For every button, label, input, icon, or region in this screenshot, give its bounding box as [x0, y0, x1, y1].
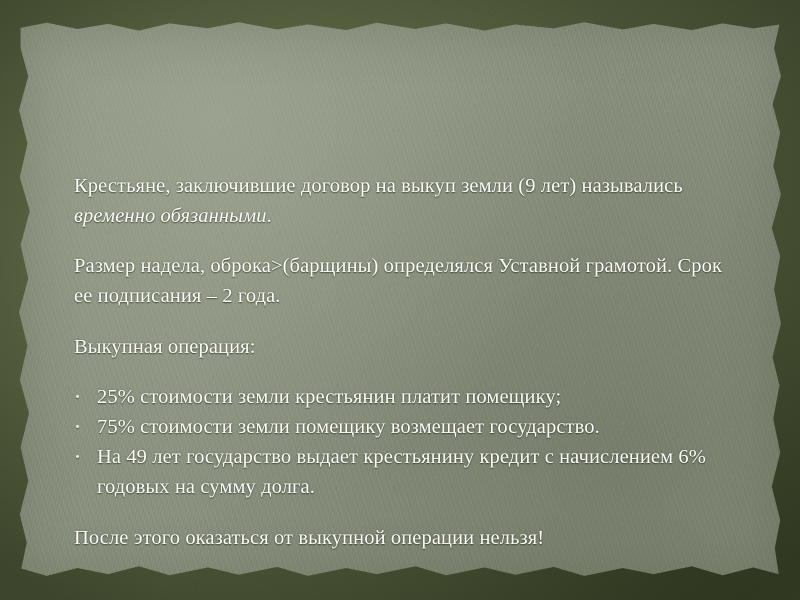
list-item: 25% стоимости земли крестьянин платит по… — [74, 382, 736, 412]
list-item-label: На 49 лет государство выдает крестьянину… — [97, 446, 711, 498]
paragraph-1-segment-2: . — [267, 205, 272, 227]
list-item: На 49 лет государство выдает крестьянину… — [74, 442, 736, 502]
bullet-dot-icon — [76, 425, 79, 428]
paragraph-redemption-heading: Выкупная операция: — [74, 332, 736, 362]
paragraph-temporarily-obligated: Крестьяне, заключившие договор на выкуп … — [74, 171, 736, 231]
paragraph-allotment-charter: Размер надела, оброка>(барщины) определя… — [74, 251, 736, 311]
slide-text-body: Крестьяне, заключившие договор на выкуп … — [74, 150, 736, 573]
redemption-operation-bullet-list: 25% стоимости земли крестьянин платит по… — [74, 382, 736, 502]
list-item-label: 75% стоимости земли помещику возмещает г… — [97, 416, 600, 438]
bullet-dot-icon — [76, 395, 79, 398]
paragraph-conclusion: После этого оказаться от выкупной операц… — [74, 523, 736, 553]
list-item: 75% стоимости земли помещику возмещает г… — [74, 412, 736, 442]
paragraph-1-italic-term: временно обязанными — [74, 205, 267, 227]
paragraph-1-segment-1: Крестьяне, заключившие договор на выкуп … — [74, 175, 688, 197]
presentation-slide: Крестьяне, заключившие договор на выкуп … — [0, 0, 800, 600]
list-item-label: 25% стоимости земли крестьянин платит по… — [97, 386, 561, 408]
bullet-dot-icon — [76, 455, 79, 458]
